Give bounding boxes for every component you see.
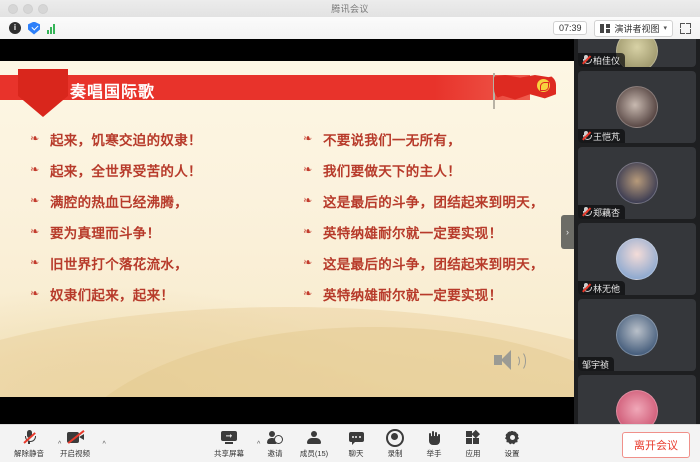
lyric-text: 我们要做天下的主人！ xyxy=(323,160,461,180)
mic-muted-icon xyxy=(582,131,590,141)
lyric-line: ❧旧世界打个落花流水， xyxy=(30,253,287,273)
participant-tile[interactable]: 林无他 xyxy=(578,223,696,295)
avatar xyxy=(616,238,658,280)
participant-tile[interactable]: 郑藕杏 xyxy=(578,147,696,219)
leave-meeting-button[interactable]: 离开会议 xyxy=(622,432,690,458)
participant-tile[interactable]: 王苏雨 xyxy=(578,375,696,424)
lyric-marker-icon: ❧ xyxy=(30,134,44,145)
chat-icon xyxy=(349,429,364,446)
lyric-marker-icon: ❧ xyxy=(30,227,44,238)
lyric-line: ❧我们要做天下的主人！ xyxy=(303,160,574,180)
lyric-line: ❧这是最后的斗争，团结起来到明天， xyxy=(303,253,574,273)
mute-button-label: 解除静音 xyxy=(14,448,44,459)
participant-name: 林无他 xyxy=(593,282,620,295)
lyric-line: ❧英特纳雄耐尔就一定要实现！ xyxy=(303,284,574,304)
members-button[interactable]: 成员(15) xyxy=(291,429,337,459)
record-button-label: 录制 xyxy=(388,448,403,459)
speaker-cone xyxy=(501,350,511,370)
lyric-text: 这是最后的斗争，团结起来到明天， xyxy=(323,191,544,211)
pennant-shape xyxy=(18,69,68,117)
window-title: 腾讯会议 xyxy=(0,2,700,15)
apps-icon xyxy=(466,429,480,446)
lyric-line: ❧起来，饥寒交迫的奴隶！ xyxy=(30,129,287,149)
avatar xyxy=(616,314,658,356)
participants-sidebar[interactable]: 柏佳仪 王恺芃 郑藕杏 林无他 邹 xyxy=(574,39,700,424)
participant-name: 郑藕杏 xyxy=(593,206,620,219)
shield-icon[interactable] xyxy=(28,22,40,35)
lyric-text: 旧世界打个落花流水， xyxy=(50,253,188,273)
window-title-bar: 腾讯会议 xyxy=(0,0,700,18)
party-flag-icon xyxy=(488,67,560,111)
participant-tile[interactable]: 柏佳仪 xyxy=(578,39,696,67)
lyric-text: 起来，全世界受苦的人！ xyxy=(50,160,202,180)
participant-name-bar: 郑藕杏 xyxy=(578,205,625,219)
invite-icon xyxy=(267,429,283,446)
lyric-text: 这是最后的斗争，团结起来到明天， xyxy=(323,253,544,273)
lyric-marker-icon: ❧ xyxy=(303,196,317,207)
camera-off-icon: ^ xyxy=(67,429,84,446)
mute-button[interactable]: ^ 解除静音 xyxy=(6,429,52,459)
info-icon[interactable]: i xyxy=(9,22,21,34)
share-screen-button[interactable]: ^ 共享屏幕 xyxy=(206,429,252,459)
lyric-marker-icon: ❧ xyxy=(303,289,317,300)
mic-muted-icon xyxy=(582,207,590,217)
lyric-text: 要为真理而斗争！ xyxy=(50,222,160,242)
hammer-sickle-emblem xyxy=(537,79,550,92)
lyrics-column-left: ❧起来，饥寒交迫的奴隶！ ❧起来，全世界受苦的人！ ❧满腔的热血已经沸腾， ❧要… xyxy=(0,129,287,315)
avatar xyxy=(616,390,658,424)
lyric-text: 不要说我们一无所有， xyxy=(323,129,461,149)
lyric-text: 奴隶们起来，起来！ xyxy=(50,284,174,304)
share-screen-button-label: 共享屏幕 xyxy=(214,448,244,459)
raise-hand-icon xyxy=(428,429,441,446)
lyric-marker-icon: ❧ xyxy=(303,227,317,238)
participant-name: 邹宇祯 xyxy=(582,358,609,371)
slide-title: 奏唱国际歌 xyxy=(70,78,155,102)
participant-name-bar: 邹宇祯 xyxy=(578,357,614,371)
lyric-text: 满腔的热血已经沸腾， xyxy=(50,191,188,211)
video-options-caret-icon[interactable]: ^ xyxy=(103,441,106,448)
tencent-meeting-window: 腾讯会议 i 07:39 演讲者视图 ▾ 奏唱国际歌 xyxy=(0,0,700,462)
meeting-top-bar: i 07:39 演讲者视图 ▾ xyxy=(0,17,700,40)
raise-hand-button-label: 举手 xyxy=(427,448,442,459)
shared-screen-stage: 奏唱国际歌 ❧起来，饥寒交迫的奴隶！ ❧起来，全世界受苦的人！ ❧满腔的热血已经… xyxy=(0,39,574,424)
lyric-line: ❧奴隶们起来，起来！ xyxy=(30,284,287,304)
members-button-label: 成员(15) xyxy=(300,448,328,459)
settings-button-label: 设置 xyxy=(505,448,520,459)
lyric-text: 英特纳雄耐尔就一定要实现！ xyxy=(323,284,502,304)
lyric-line: ❧这是最后的斗争，团结起来到明天， xyxy=(303,191,574,211)
gear-icon xyxy=(505,429,519,446)
video-button[interactable]: ^ 开启视频 xyxy=(52,429,98,459)
lyric-text: 英特纳雄耐尔就一定要实现！ xyxy=(323,222,502,242)
participant-name: 柏佳仪 xyxy=(593,54,620,67)
participant-name: 王恺芃 xyxy=(593,130,620,143)
lyrics-container: ❧起来，饥寒交迫的奴隶！ ❧起来，全世界受苦的人！ ❧满腔的热血已经沸腾， ❧要… xyxy=(0,129,574,315)
lyric-marker-icon: ❧ xyxy=(303,258,317,269)
participant-name-bar: 林无他 xyxy=(578,281,625,295)
lyric-line: ❧满腔的热血已经沸腾， xyxy=(30,191,287,211)
presentation-slide: 奏唱国际歌 ❧起来，饥寒交迫的奴隶！ ❧起来，全世界受苦的人！ ❧满腔的热血已经… xyxy=(0,61,574,397)
mic-muted-icon xyxy=(582,55,590,65)
members-icon xyxy=(307,429,321,446)
lyric-marker-icon: ❧ xyxy=(30,165,44,176)
speaker-icon[interactable] xyxy=(494,349,522,373)
participant-name-bar: 王恺芃 xyxy=(578,129,625,143)
video-button-label: 开启视频 xyxy=(60,448,90,459)
sidebar-collapse-handle[interactable]: › xyxy=(561,215,574,249)
signal-icon[interactable] xyxy=(47,23,55,34)
speaker-wave xyxy=(514,351,526,371)
avatar xyxy=(616,162,658,204)
lyric-marker-icon: ❧ xyxy=(303,165,317,176)
record-icon xyxy=(386,429,404,446)
lyric-line: ❧起来，全世界受苦的人！ xyxy=(30,160,287,180)
participant-name-bar: 柏佳仪 xyxy=(578,53,625,67)
lyric-marker-icon: ❧ xyxy=(303,134,317,145)
lyric-marker-icon: ❧ xyxy=(30,258,44,269)
layout-icon xyxy=(600,24,610,33)
meeting-control-bar: ^ 解除静音 ^ 开启视频 ^ 共享屏幕 邀请 xyxy=(0,424,700,462)
lyric-line: ❧要为真理而斗争！ xyxy=(30,222,287,242)
participant-tile[interactable]: 王恺芃 xyxy=(578,71,696,143)
invite-button-label: 邀请 xyxy=(268,448,283,459)
view-mode-selector[interactable]: 演讲者视图 ▾ xyxy=(594,20,673,37)
settings-button[interactable]: 设置 xyxy=(489,429,535,459)
view-mode-label: 演讲者视图 xyxy=(614,22,659,35)
chat-button-label: 聊天 xyxy=(349,448,364,459)
mic-muted-icon xyxy=(582,283,590,293)
meeting-timer: 07:39 xyxy=(553,21,588,35)
chevron-down-icon: ▾ xyxy=(663,24,667,32)
lyric-marker-icon: ❧ xyxy=(30,289,44,300)
participant-tile[interactable]: 邹宇祯 xyxy=(578,299,696,371)
fullscreen-icon[interactable] xyxy=(680,23,691,34)
avatar xyxy=(616,86,658,128)
lyric-line: ❧不要说我们一无所有， xyxy=(303,129,574,149)
lyrics-column-right: ❧不要说我们一无所有， ❧我们要做天下的主人！ ❧这是最后的斗争，团结起来到明天… xyxy=(287,129,574,315)
lyric-marker-icon: ❧ xyxy=(30,196,44,207)
mic-muted-icon: ^ xyxy=(24,429,34,446)
share-screen-icon: ^ xyxy=(221,429,237,446)
lyric-line: ❧英特纳雄耐尔就一定要实现！ xyxy=(303,222,574,242)
lyric-text: 起来，饥寒交迫的奴隶！ xyxy=(50,129,202,149)
apps-button-label: 应用 xyxy=(466,448,481,459)
